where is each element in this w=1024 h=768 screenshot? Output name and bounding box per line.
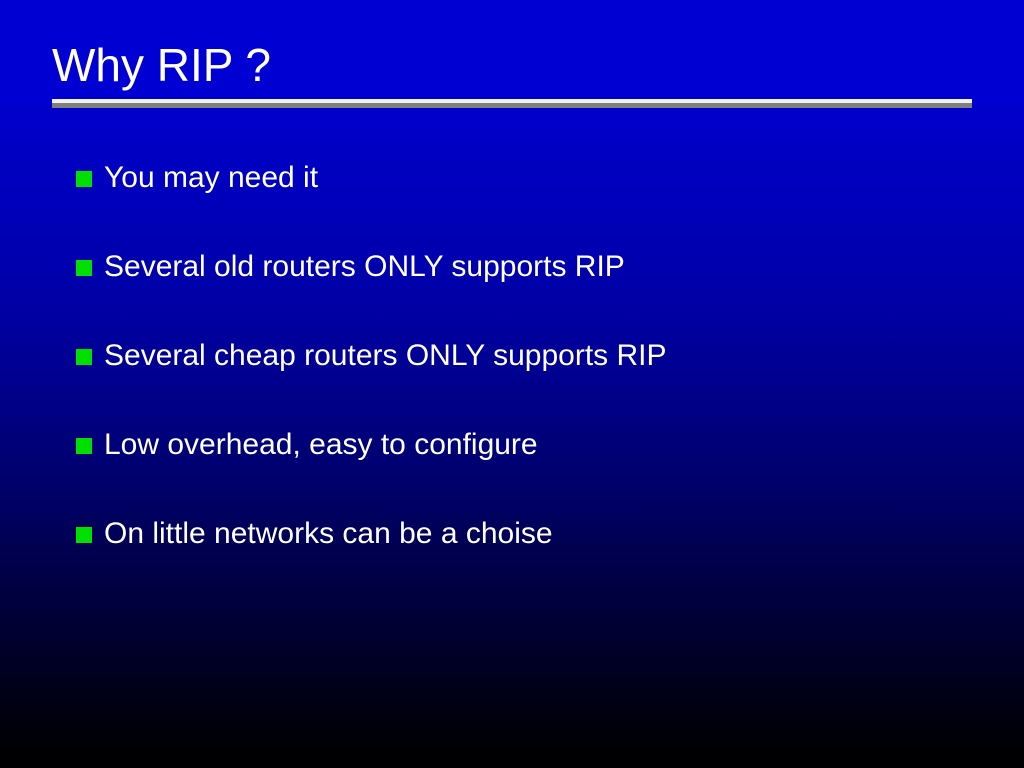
list-item-label: Low overhead, easy to configure xyxy=(104,425,538,465)
green-square-bullet-icon xyxy=(76,527,92,543)
green-square-bullet-icon xyxy=(76,260,92,276)
title-block: Why RIP ? xyxy=(52,38,972,92)
title-divider-shadow xyxy=(52,103,972,108)
list-item-label: Several old routers ONLY supports RIP xyxy=(104,247,625,287)
list-item: You may need it xyxy=(76,156,1006,200)
list-item: On little networks can be a choise xyxy=(76,512,1006,556)
presentation-slide: Why RIP ? You may need it Several old ro… xyxy=(0,0,1024,768)
list-item: Low overhead, easy to configure xyxy=(76,423,1006,467)
green-square-bullet-icon xyxy=(76,171,92,187)
bullet-list: You may need it Several old routers ONLY… xyxy=(76,156,1006,601)
list-item-label: You may need it xyxy=(104,158,318,198)
page-title: Why RIP ? xyxy=(52,38,972,92)
list-item-label: On little networks can be a choise xyxy=(104,514,553,554)
title-divider-rule xyxy=(52,99,972,108)
green-square-bullet-icon xyxy=(76,438,92,454)
list-item: Several old routers ONLY supports RIP xyxy=(76,245,1006,289)
green-square-bullet-icon xyxy=(76,349,92,365)
list-item-label: Several cheap routers ONLY supports RIP xyxy=(104,336,667,376)
list-item: Several cheap routers ONLY supports RIP xyxy=(76,334,1006,378)
